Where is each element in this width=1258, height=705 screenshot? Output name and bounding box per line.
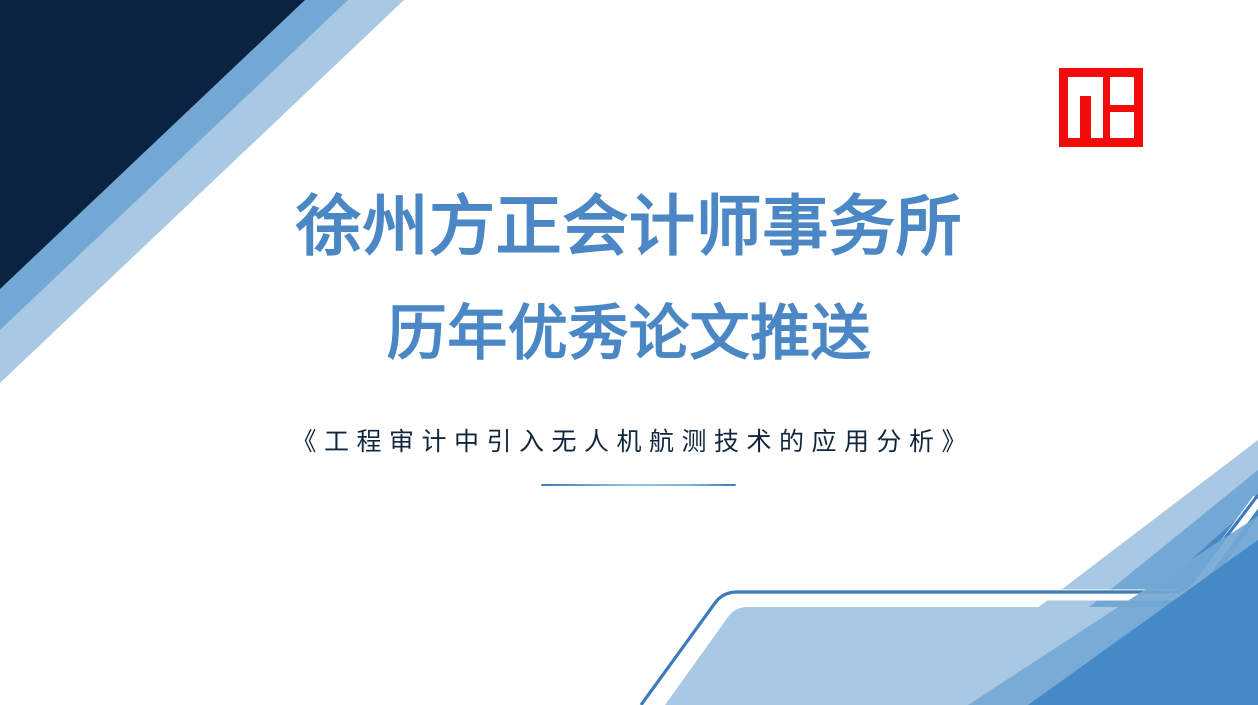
bottom-panel-fill-shape <box>665 516 1258 705</box>
bottom-band-mid-shape <box>968 470 1258 705</box>
top-stripe-mid-shape <box>0 0 348 330</box>
bottom-panel-outline-stroke <box>641 495 1258 705</box>
logo-cut-top-right <box>1110 77 1134 105</box>
company-logo-icon <box>1059 68 1143 147</box>
presentation-slide: 徐州方正会计师事务所 历年优秀论文推送 《工程审计中引入无人机航测技术的应用分析… <box>0 0 1258 705</box>
logo-cut-bottom-right <box>1110 112 1134 138</box>
title-divider-rule <box>541 484 736 486</box>
bottom-band-mid-overlay-shape <box>968 516 1258 705</box>
bottom-band-dark-overlay-shape <box>1028 540 1258 705</box>
logo-pillar-shape <box>1080 96 1091 138</box>
slide-subtitle: 《工程审计中引入无人机航测技术的应用分析》 <box>0 427 1258 457</box>
bottom-band-light-shape <box>910 440 1258 705</box>
slide-title-line-1: 徐州方正会计师事务所 <box>0 194 1258 260</box>
bottom-panel-outline-gap <box>648 499 1258 705</box>
bottom-band-dark-shape <box>1028 500 1258 705</box>
slide-title-line-2: 历年优秀论文推送 <box>0 304 1258 364</box>
